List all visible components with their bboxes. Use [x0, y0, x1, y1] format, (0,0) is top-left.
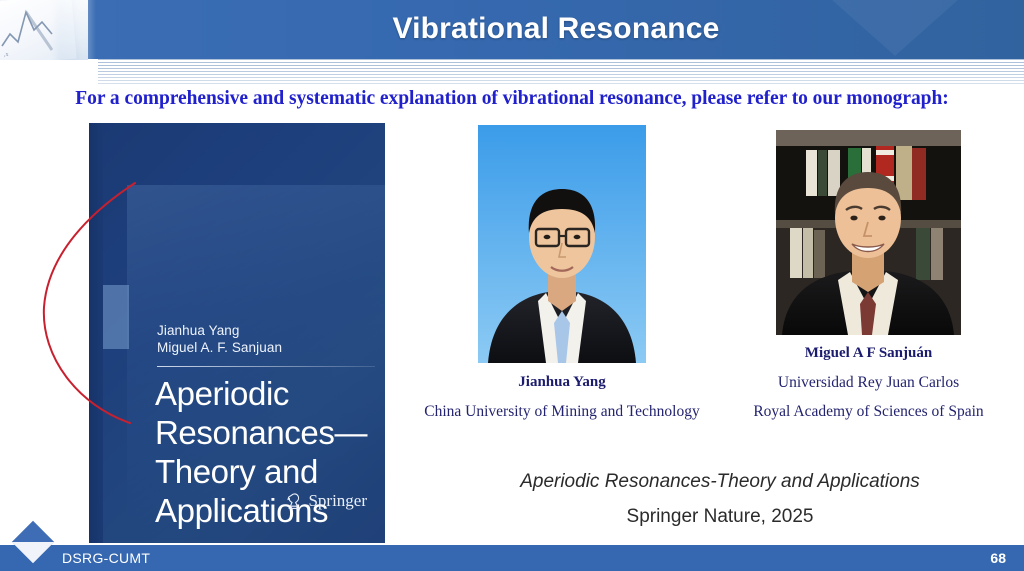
slide-header: ,x Vibrational Resonance	[0, 0, 1024, 59]
page-title: Vibrational Resonance	[88, 0, 1024, 59]
subtitle-text: For a comprehensive and systematic expla…	[0, 88, 1024, 110]
book-cover-image: Jianhua Yang Miguel A. F. Sanjuan Aperio…	[89, 123, 385, 543]
book-title-line-3: Theory and	[155, 452, 385, 491]
reference-publisher: Springer Nature, 2025	[440, 506, 1000, 528]
springer-logo: Springer	[286, 491, 367, 511]
book-author-2: Miguel A. F. Sanjuan	[157, 339, 377, 356]
avatar-miguel-sanjuan	[776, 130, 961, 335]
person-name-0: Jianhua Yang	[478, 374, 646, 391]
header-stripe-fade	[88, 59, 1024, 85]
footer-diamond-decoration	[10, 523, 58, 571]
book-author-1: Jianhua Yang	[157, 322, 377, 339]
slide-footer: DSRG-CUMT 68	[0, 545, 1024, 571]
book-divider	[157, 366, 375, 367]
svg-text:,x: ,x	[4, 52, 9, 58]
person-name-1: Miguel A F Sanjuán	[776, 345, 961, 362]
book-authors: Jianhua Yang Miguel A. F. Sanjuan	[157, 322, 377, 356]
avatar-jianhua-yang	[478, 125, 646, 363]
book-title-line-1: Aperiodic	[155, 374, 385, 413]
header-decorative-photo: ,x	[0, 0, 96, 60]
book-spine	[89, 123, 103, 543]
footer-label: DSRG-CUMT	[62, 545, 150, 571]
header-stripe-leftcap	[88, 59, 98, 85]
springer-knight-icon	[286, 492, 303, 511]
book-title-line-2: Resonances—	[155, 413, 385, 452]
footer-page-number: 68	[990, 545, 1006, 571]
person-affiliation-1-1: Royal Academy of Sciences of Spain	[720, 403, 1017, 421]
reference-title: Aperiodic Resonances-Theory and Applicat…	[440, 471, 1000, 493]
person-affiliation-0-0: China University of Mining and Technolog…	[378, 403, 746, 421]
book-cover-tab	[103, 285, 129, 349]
person-affiliation-1-0: Universidad Rey Juan Carlos	[720, 374, 1017, 392]
springer-wordmark: Springer	[308, 491, 367, 511]
